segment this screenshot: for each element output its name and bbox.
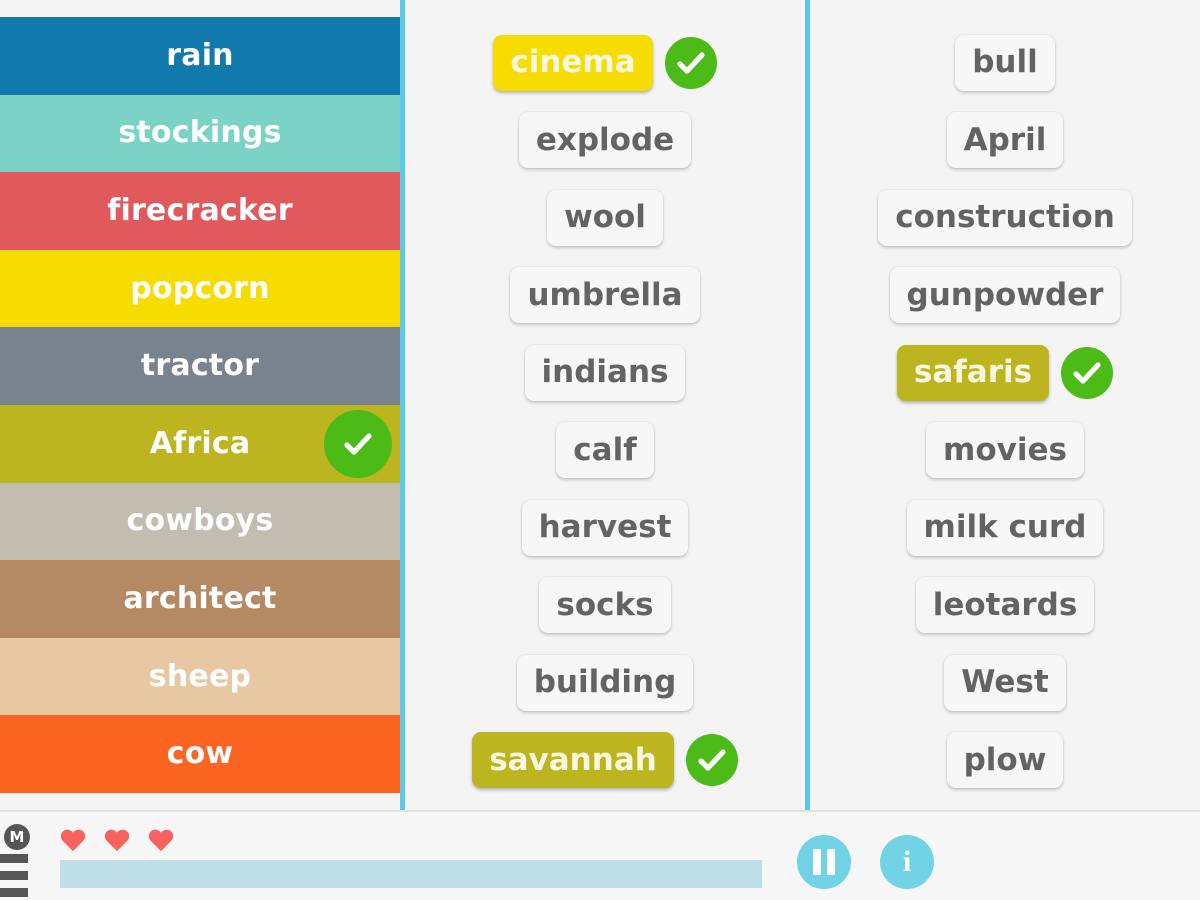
word-tile[interactable]: cinema <box>493 35 652 91</box>
word-tile-row: April <box>810 102 1200 180</box>
pause-icon <box>813 849 821 875</box>
category-band[interactable]: tractor <box>0 327 400 405</box>
category-band[interactable]: popcorn <box>0 250 400 328</box>
info-button[interactable]: i <box>880 835 934 889</box>
word-tile-row: movies <box>810 412 1200 490</box>
word-tile-row: harvest <box>405 489 805 567</box>
word-tile[interactable]: building <box>517 655 694 711</box>
word-tile-row: plow <box>810 722 1200 800</box>
heart-icon <box>104 830 130 854</box>
word-column-middle: cinemaexplodewoolumbrellaindianscalfharv… <box>405 0 805 810</box>
category-band-label: rain <box>166 41 233 71</box>
category-band[interactable]: cowboys <box>0 483 400 561</box>
word-tile[interactable]: harvest <box>522 500 689 556</box>
word-tile[interactable]: movies <box>926 422 1084 478</box>
puzzle-board: rainstockingsfirecrackerpopcorntractorAf… <box>0 0 1200 810</box>
word-tile-row: cinema <box>405 24 805 102</box>
pause-icon <box>827 849 835 875</box>
info-icon: i <box>903 847 911 877</box>
word-tile-row: savannah <box>405 722 805 800</box>
word-tile-row: explode <box>405 102 805 180</box>
category-band-label: sheep <box>149 662 251 692</box>
word-tile[interactable]: savannah <box>472 732 674 788</box>
word-tile-row: gunpowder <box>810 257 1200 335</box>
word-tile[interactable]: West <box>944 655 1065 711</box>
word-tile-row: building <box>405 644 805 722</box>
word-tile[interactable]: gunpowder <box>890 267 1121 323</box>
bottom-toolbar: M i Solve <box>0 810 1200 900</box>
word-tile[interactable]: calf <box>556 422 653 478</box>
word-tile[interactable]: explode <box>519 112 691 168</box>
hamburger-bar <box>0 888 28 897</box>
category-band-label: firecracker <box>107 196 293 226</box>
check-icon <box>686 734 738 786</box>
category-band-label: tractor <box>141 351 259 381</box>
lives-hearts <box>60 830 174 854</box>
hamburger-bar <box>0 871 28 880</box>
category-band-label: architect <box>123 584 276 614</box>
category-band-label: Africa <box>150 429 251 459</box>
category-band-label: stockings <box>118 118 281 148</box>
word-tile-row: milk curd <box>810 489 1200 567</box>
word-tile-row: wool <box>405 179 805 257</box>
pause-button[interactable] <box>797 835 851 889</box>
word-tile[interactable]: safaris <box>897 345 1049 401</box>
category-band-label: cowboys <box>126 506 273 536</box>
word-tile[interactable]: indians <box>525 345 686 401</box>
category-band[interactable]: firecracker <box>0 172 400 250</box>
word-tile[interactable]: wool <box>547 190 663 246</box>
word-tile-row: West <box>810 644 1200 722</box>
word-tile-row: construction <box>810 179 1200 257</box>
category-band[interactable]: architect <box>0 560 400 638</box>
word-tile[interactable]: milk curd <box>907 500 1104 556</box>
heart-icon <box>60 830 86 854</box>
category-band[interactable]: Africa <box>0 405 400 483</box>
menu-block[interactable]: M <box>0 816 44 900</box>
check-icon <box>324 410 392 478</box>
word-tile-row: safaris <box>810 334 1200 412</box>
category-band[interactable]: cow <box>0 715 400 793</box>
m-badge-icon[interactable]: M <box>4 824 30 850</box>
check-icon <box>665 37 717 89</box>
word-tile[interactable]: umbrella <box>510 267 699 323</box>
category-band[interactable]: sheep <box>0 638 400 716</box>
progress-bar-track <box>60 860 762 888</box>
check-icon <box>1061 347 1113 399</box>
word-tile[interactable]: April <box>947 112 1064 168</box>
word-column-right: bullAprilconstructiongunpowdersafarismov… <box>810 0 1200 810</box>
word-tile-row: leotards <box>810 567 1200 645</box>
game-screen: rainstockingsfirecrackerpopcorntractorAf… <box>0 0 1200 900</box>
word-tile[interactable]: bull <box>955 35 1055 91</box>
category-band-label: cow <box>167 739 234 769</box>
word-tile[interactable]: plow <box>947 732 1064 788</box>
word-tile-row: calf <box>405 412 805 490</box>
category-band[interactable]: rain <box>0 17 400 95</box>
word-tile-row: socks <box>405 567 805 645</box>
word-tile[interactable]: construction <box>878 190 1132 246</box>
hamburger-icon[interactable] <box>0 854 28 900</box>
heart-icon <box>148 830 174 854</box>
word-tile-row: indians <box>405 334 805 412</box>
word-tile[interactable]: leotards <box>916 577 1095 633</box>
hamburger-bar <box>0 854 28 863</box>
category-column: rainstockingsfirecrackerpopcorntractorAf… <box>0 0 400 810</box>
category-band-label: popcorn <box>130 274 270 304</box>
category-band[interactable]: stockings <box>0 95 400 173</box>
word-tile[interactable]: socks <box>539 577 670 633</box>
progress-bar-fill <box>60 860 762 888</box>
word-tile-row: umbrella <box>405 257 805 335</box>
word-tile-row: bull <box>810 24 1200 102</box>
